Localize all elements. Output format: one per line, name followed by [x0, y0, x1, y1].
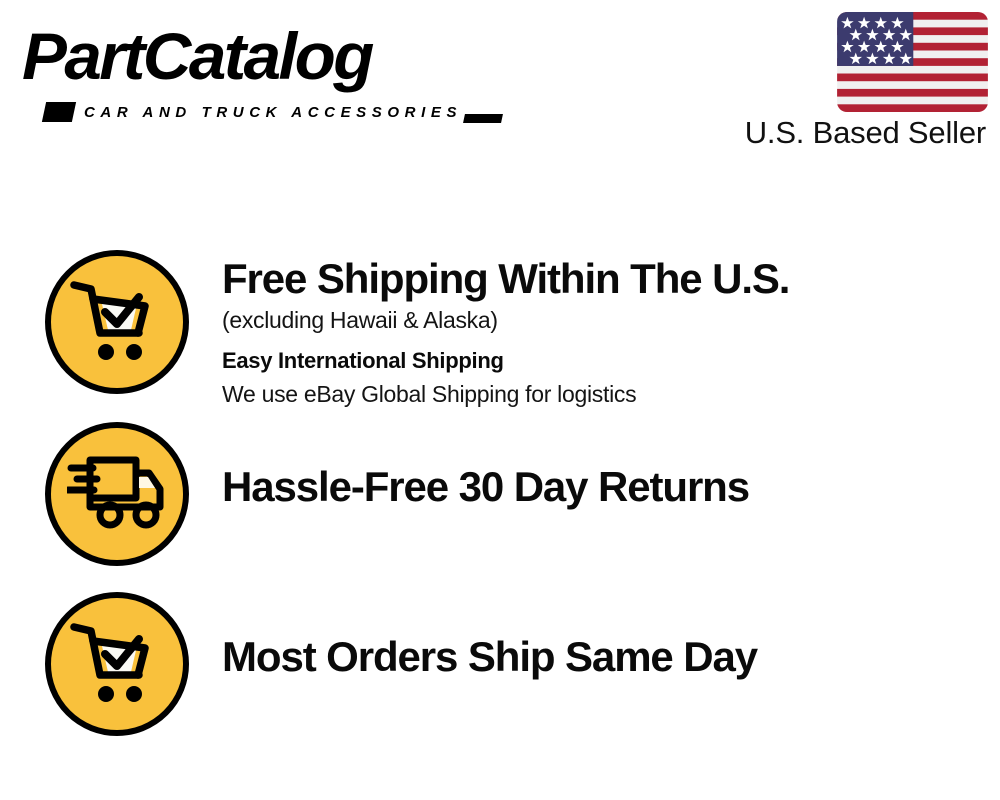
feature-heading: Most Orders Ship Same Day — [222, 632, 757, 682]
seller-location-label: U.S. Based Seller — [745, 115, 986, 151]
feature-subtext-strong: Easy International Shipping — [222, 344, 789, 378]
feature-text-block: Most Orders Ship Same Day — [222, 592, 757, 682]
page-header: PartCatalog CAR AND TRUCK ACCESSORIES — [0, 0, 1000, 180]
logo-accent-left — [42, 102, 76, 122]
logo-accent-right — [463, 114, 503, 123]
feature-row: Hassle-Free 30 Day Returns — [0, 422, 1000, 592]
brand-logo: PartCatalog CAR AND TRUCK ACCESSORIES — [22, 18, 492, 118]
feature-heading: Hassle-Free 30 Day Returns — [222, 462, 749, 512]
delivery-truck-icon — [45, 422, 189, 566]
brand-tagline: CAR AND TRUCK ACCESSORIES — [84, 104, 462, 121]
cart-check-icon — [45, 592, 189, 736]
brand-wordmark: PartCatalog — [22, 18, 372, 94]
feature-subtext: (excluding Hawaii & Alaska) — [222, 304, 789, 336]
us-flag-icon — [837, 12, 988, 112]
feature-subtext-secondary: We use eBay Global Shipping for logistic… — [222, 378, 789, 410]
cart-check-icon — [45, 250, 189, 394]
feature-text-block: Hassle-Free 30 Day Returns — [222, 422, 749, 512]
feature-row: Free Shipping Within The U.S. (excluding… — [0, 250, 1000, 420]
feature-row: Most Orders Ship Same Day — [0, 592, 1000, 762]
feature-heading: Free Shipping Within The U.S. — [222, 254, 789, 304]
feature-text-block: Free Shipping Within The U.S. (excluding… — [222, 250, 789, 410]
